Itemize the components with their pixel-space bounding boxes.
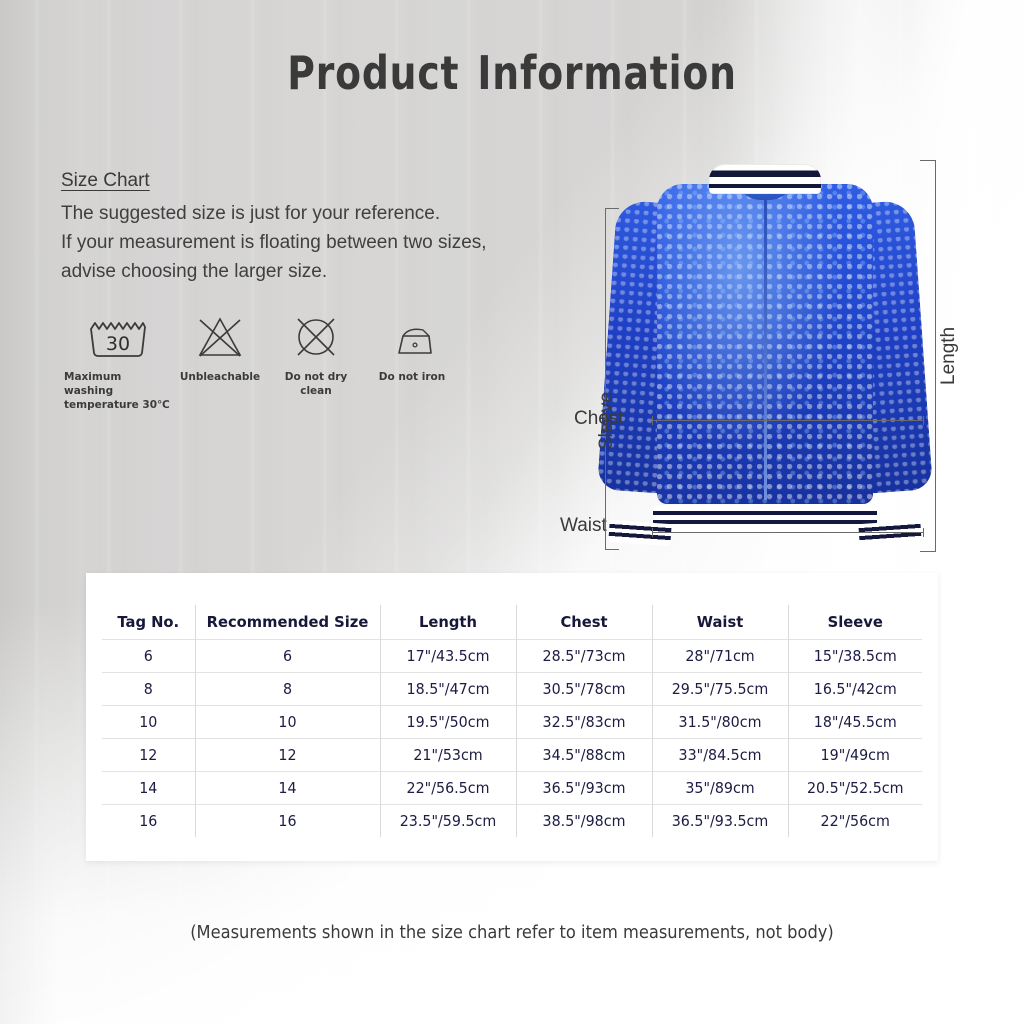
page-title-part-1: Product [287,46,459,100]
cell-length: 19.5"/50cm [383,705,512,738]
cell-length: 22"/56.5cm [383,771,512,804]
measurement-footnote: (Measurements shown in the size chart re… [36,923,988,943]
care-wash-label-line-1: Maximum washing [64,371,121,397]
cell-sleeve: 20.5"/52.5cm [791,771,918,804]
col-header-waist: Waist [655,605,784,639]
cell-chest: 32.5"/83cm [519,705,648,738]
cell-tag: 14 [104,771,192,804]
size-table-header-row: Tag No. Recommended Size Length Chest Wa… [102,605,922,639]
size-table-head: Tag No. Recommended Size Length Chest Wa… [102,605,922,639]
wash-tub-30-icon: 30 [87,312,149,362]
care-symbol-bleach: Unbleachable [172,312,268,384]
no-iron-icon [385,312,439,362]
care-symbol-iron: Do not iron [364,312,460,384]
product-information-page: ProductInformation Size Chart The sugges… [0,0,1024,1024]
cell-waist: 29.5"/75.5cm [655,672,784,705]
care-symbol-dry-clean-label: Do not dry clean [268,370,364,398]
cell-recommended: 14 [200,771,376,804]
cell-sleeve: 22"/56cm [791,804,918,837]
cell-recommended: 12 [200,738,376,771]
cell-length: 17"/43.5cm [383,639,512,672]
table-row: 6 6 17"/43.5cm 28.5"/73cm 28"/71cm 15"/3… [102,639,922,672]
cell-sleeve: 15"/38.5cm [791,639,918,672]
table-row: 16 16 23.5"/59.5cm 38.5"/98cm 36.5"/93.5… [102,804,922,837]
jacket-body [657,184,873,504]
care-symbols-row: 30 Maximum washing temperature 30℃ Unble… [64,312,460,412]
measurement-label-length: Length [938,327,960,385]
care-symbol-bleach-label: Unbleachable [180,370,260,384]
jacket-hem-rib [653,506,877,532]
col-header-chest: Chest [519,605,648,639]
measurement-label-waist: Waist [560,515,607,537]
size-table-panel: Tag No. Recommended Size Length Chest Wa… [86,573,938,861]
cell-waist: 33"/84.5cm [655,738,784,771]
jacket-photo [605,160,925,550]
size-chart-line-3: advise choosing the larger size. [61,257,487,286]
col-header-length: Length [383,605,512,639]
cell-waist: 31.5"/80cm [655,705,784,738]
cell-chest: 38.5"/98cm [519,804,648,837]
cell-chest: 30.5"/78cm [519,672,648,705]
cell-waist: 35"/89cm [655,771,784,804]
measurement-bracket-sleeve [605,208,619,550]
cell-sleeve: 16.5"/42cm [791,672,918,705]
cell-recommended: 10 [200,705,376,738]
jacket-right-cuff-rib [858,520,921,546]
care-wash-label-line-2: temperature 30℃ [64,399,170,411]
cell-chest: 36.5"/93cm [519,771,648,804]
measurement-line-chest [652,420,924,421]
size-chart-line-2: If your measurement is floating between … [61,228,487,257]
jacket-collar-rib [709,164,821,194]
table-row: 10 10 19.5"/50cm 32.5"/83cm 31.5"/80cm 1… [102,705,922,738]
care-symbol-wash: 30 Maximum washing temperature 30℃ [64,312,172,412]
no-dry-clean-circle-icon [291,312,341,362]
cell-sleeve: 18"/45.5cm [791,705,918,738]
cell-recommended: 6 [200,639,376,672]
cell-recommended: 16 [200,804,376,837]
background-left-edge [0,0,110,1024]
measurement-line-waist [652,532,924,533]
product-image-area: Chest Waist Sleeve Length [560,150,1000,570]
size-chart-line-1: The suggested size is just for your refe… [61,199,487,228]
cell-chest: 34.5"/88cm [519,738,648,771]
cell-sleeve: 19"/49cm [791,738,918,771]
cell-length: 18.5"/47cm [383,672,512,705]
col-header-sleeve: Sleeve [791,605,918,639]
care-symbol-iron-label: Do not iron [379,370,445,384]
table-row: 12 12 21"/53cm 34.5"/88cm 33"/84.5cm 19"… [102,738,922,771]
col-header-tag-no: Tag No. [104,605,192,639]
page-title-part-2: Information [477,46,736,100]
size-chart-heading: Size Chart [61,170,487,192]
svg-text:30: 30 [106,333,130,355]
table-row: 14 14 22"/56.5cm 36.5"/93cm 35"/89cm 20.… [102,771,922,804]
size-table-body: 6 6 17"/43.5cm 28.5"/73cm 28"/71cm 15"/3… [102,639,922,837]
size-chart-info: Size Chart The suggested size is just fo… [61,170,487,286]
cell-length: 21"/53cm [383,738,512,771]
cell-waist: 28"/71cm [655,639,784,672]
cell-tag: 10 [104,705,192,738]
care-symbol-wash-label: Maximum washing temperature 30℃ [64,370,172,412]
cell-chest: 28.5"/73cm [519,639,648,672]
page-title: ProductInformation [92,46,932,100]
cell-length: 23.5"/59.5cm [383,804,512,837]
no-bleach-triangle-icon [195,312,245,362]
care-symbol-dry-clean: Do not dry clean [268,312,364,398]
cell-tag: 8 [104,672,192,705]
cell-recommended: 8 [200,672,376,705]
cell-tag: 16 [104,804,192,837]
measurement-label-sleeve: Sleeve [596,392,618,450]
table-row: 8 8 18.5"/47cm 30.5"/78cm 29.5"/75.5cm 1… [102,672,922,705]
cell-tag: 12 [104,738,192,771]
col-header-recommended-size: Recommended Size [200,605,376,639]
cell-waist: 36.5"/93.5cm [655,804,784,837]
measurement-bracket-length [920,160,936,552]
jacket-zipper [764,200,767,500]
cell-tag: 6 [104,639,192,672]
size-table: Tag No. Recommended Size Length Chest Wa… [102,605,922,837]
